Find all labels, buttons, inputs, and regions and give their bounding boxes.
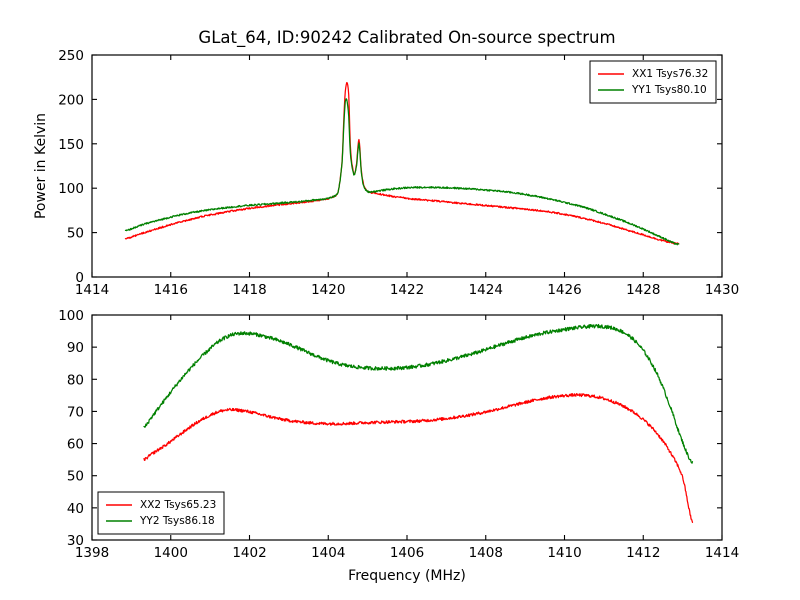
x-tick-label: 1404: [311, 545, 345, 561]
series-line-xx1: [125, 83, 678, 244]
x-axis-label: Frequency (MHz): [348, 568, 466, 584]
x-tick-label: 1410: [547, 545, 581, 561]
legend-label: YY1 Tsys80.10: [631, 84, 707, 96]
x-tick-label: 1408: [469, 545, 503, 561]
series-line-xx2: [144, 394, 693, 523]
x-tick-label: 1416: [154, 282, 188, 298]
legend-top-panel[interactable]: XX1 Tsys76.32YY1 Tsys80.10: [590, 61, 716, 103]
y-tick-label: 80: [67, 372, 84, 388]
y-tick-label: 60: [67, 437, 84, 453]
x-tick-label: 1420: [311, 282, 345, 298]
spectrum-figure: 1414141614181420142214241426142814300501…: [0, 0, 800, 600]
y-tick-label: 150: [58, 137, 84, 153]
x-tick-label: 1412: [626, 545, 660, 561]
x-tick-label: 1418: [232, 282, 266, 298]
y-axis-label: Power in Kelvin: [33, 113, 49, 219]
legend-label: XX2 Tsys65.23: [140, 499, 216, 511]
chart-title: GLat_64, ID:90242 Calibrated On-source s…: [198, 28, 615, 48]
y-tick-label: 70: [67, 404, 84, 420]
matplotlib-figure-canvas: 1414141614181420142214241426142814300501…: [0, 0, 800, 600]
x-tick-label: 1400: [154, 545, 188, 561]
x-tick-label: 1428: [626, 282, 660, 298]
plot-panel-bottom-panel: 1398140014021404140614081410141214143040…: [58, 308, 739, 584]
y-tick-label: 50: [67, 226, 84, 242]
y-tick-label: 40: [67, 501, 84, 517]
legend-bottom-panel[interactable]: XX2 Tsys65.23YY2 Tsys86.18: [98, 492, 224, 534]
x-tick-label: 1426: [547, 282, 581, 298]
y-tick-label: 100: [58, 308, 84, 324]
x-tick-label: 1414: [705, 545, 739, 561]
x-tick-label: 1430: [705, 282, 739, 298]
y-tick-label: 50: [67, 469, 84, 485]
legend-label: XX1 Tsys76.32: [632, 68, 708, 80]
y-tick-label: 200: [58, 92, 84, 108]
y-tick-label: 30: [67, 533, 84, 549]
y-tick-label: 100: [58, 181, 84, 197]
x-tick-label: 1424: [469, 282, 503, 298]
legend-label: YY2 Tsys86.18: [139, 515, 215, 527]
x-tick-label: 1402: [232, 545, 266, 561]
y-tick-label: 0: [75, 270, 84, 286]
series-line-yy1: [125, 99, 678, 245]
x-tick-label: 1422: [390, 282, 424, 298]
y-tick-label: 250: [58, 48, 84, 64]
x-tick-label: 1406: [390, 545, 424, 561]
series-line-yy2: [144, 325, 693, 464]
y-tick-label: 90: [67, 340, 84, 356]
plot-panel-top-panel: 1414141614181420142214241426142814300501…: [33, 28, 739, 298]
